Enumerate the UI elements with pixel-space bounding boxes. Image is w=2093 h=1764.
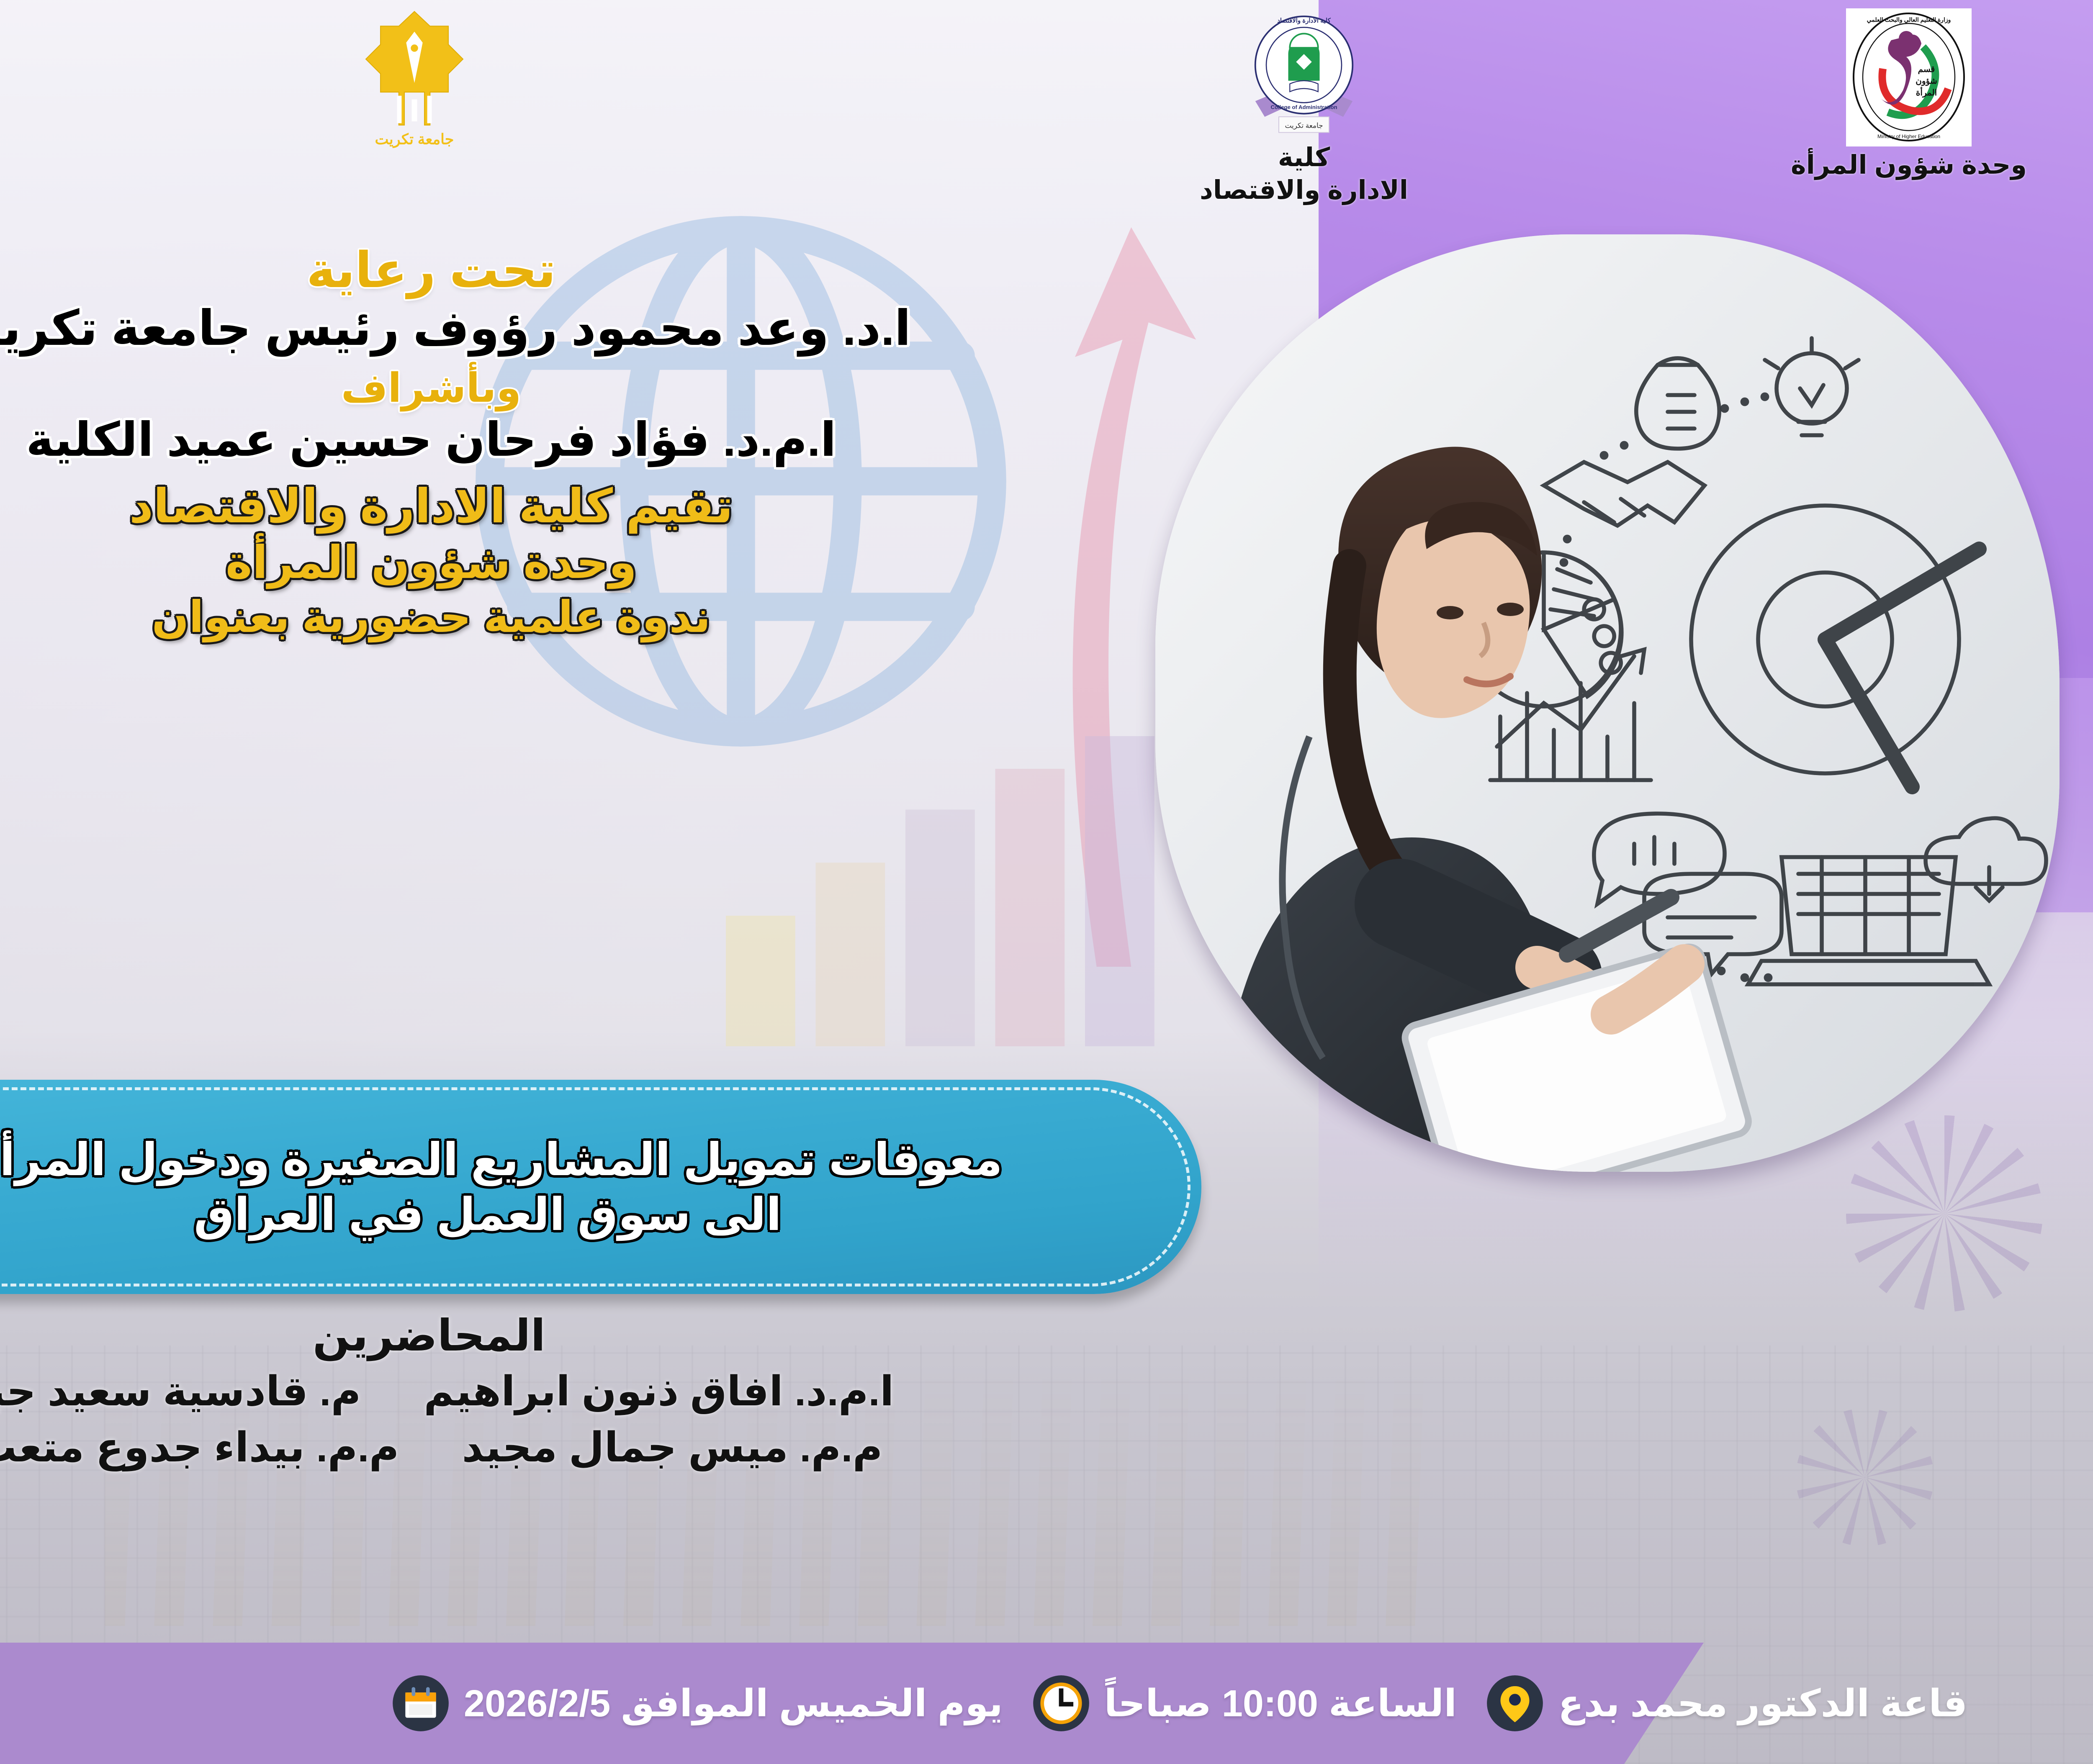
college-caption: كلية الادارة والاقتصاد: [1168, 141, 1440, 206]
lecturer-name: م. قادسية سعيد جبر: [0, 1367, 361, 1416]
svg-text:قسم: قسم: [1918, 65, 1935, 74]
supervisor-name: ا.م.د. فؤاد فرحان حسين عميد الكلية: [0, 413, 1231, 466]
businesswoman-photo: [1155, 234, 2060, 1172]
venue-text: قاعة الدكتور محمد بدع: [1558, 1682, 1967, 1725]
banner-title-line-1: معوقات تمويل المشاريع الصغيرة ودخول المر…: [0, 1134, 1003, 1185]
lecturer-name: م.م. بيداء جدوع متعب: [0, 1423, 399, 1472]
organiser-line-2: وحدة شؤون المرأة: [0, 537, 1231, 588]
footer-date-item: يوم الخميس الموافق 2026/2/5: [392, 1674, 1003, 1732]
banner-body: معوقات تمويل المشاريع الصغيرة ودخول المر…: [0, 1080, 1201, 1294]
svg-text:كلية الادارة والاقتصاد: كلية الادارة والاقتصاد: [1277, 17, 1331, 24]
background-bar-chart-icon: [703, 720, 1206, 1046]
tikrit-seal-caption: جامعة تكريت: [375, 131, 454, 149]
main-text-column: تحت رعاية ا.د. وعد محمود رؤوف رئيس جامعة…: [0, 243, 1231, 644]
footer-bar: قاعة الدكتور محمد بدع الساعة 10:00 صباحا…: [0, 1643, 2093, 1764]
calendar-icon: [392, 1674, 450, 1732]
women-unit-caption: وحدة شؤون المرأة: [1750, 149, 2068, 182]
lecturer-name: م.م. ميس جمال مجيد: [462, 1423, 882, 1472]
lecturer-row: م.م. ميس جمال مجيد م.م. بيداء جدوع متعب: [0, 1423, 1193, 1472]
lecturers-section: المحاضرين ا.م.د. افاق ذنون ابراهيم م. قا…: [0, 1310, 1193, 1479]
organiser-line-3: ندوة علمية حضورية بعنوان: [0, 593, 1231, 642]
svg-text:وزارة التعليم العالي والبحث ال: وزارة التعليم العالي والبحث العلمي: [1867, 16, 1951, 23]
poster-root: وزارة التعليم العالي Republic of Iraq وز…: [0, 0, 2093, 1764]
date-text: يوم الخميس الموافق 2026/2/5: [464, 1682, 1003, 1725]
footer-venue-item: قاعة الدكتور محمد بدع: [1486, 1674, 1967, 1732]
lecturer-row: ا.م.د. افاق ذنون ابراهيم م. قادسية سعيد …: [0, 1367, 1193, 1416]
clock-icon: [1032, 1674, 1090, 1732]
supervision-label: وبأشراف: [0, 366, 1231, 411]
university-logo-block: جامعة تكريت: [285, 4, 544, 151]
college-seal-icon: كلية الادارة والاقتصاد College of Admini…: [1241, 8, 1367, 138]
women-unit-logo-block: قسم شؤون المرأة وزارة التعليم العالي وال…: [1750, 8, 2068, 182]
location-pin-icon: [1486, 1674, 1544, 1732]
women-unit-seal-icon: قسم شؤون المرأة وزارة التعليم العالي وال…: [1846, 8, 1972, 146]
footer-time-item: الساعة 10:00 صباحاً: [1032, 1674, 1457, 1732]
gear-decoration-small-icon: [1796, 1408, 1934, 1546]
banner-title-line-2: الى سوق العمل في العراق: [194, 1189, 782, 1240]
lecturer-name: ا.م.د. افاق ذنون ابراهيم: [424, 1367, 894, 1416]
svg-text:Ministry of Higher Education: Ministry of Higher Education: [1877, 134, 1940, 139]
organiser-line-1: تقيم كلية الادارة والاقتصاد: [0, 480, 1231, 532]
seminar-title-banner: معوقات تمويل المشاريع الصغيرة ودخول المر…: [0, 1080, 1201, 1306]
patronage-label: تحت رعاية: [0, 243, 1231, 298]
lecturers-title: المحاضرين: [0, 1310, 1193, 1361]
college-logo-block: كلية الادارة والاقتصاد College of Admini…: [1168, 8, 1440, 206]
svg-text:College of Administration: College of Administration: [1270, 104, 1337, 110]
time-text: الساعة 10:00 صباحاً: [1104, 1682, 1457, 1725]
svg-text:المرأة: المرأة: [1916, 87, 1937, 98]
svg-text:شؤون: شؤون: [1916, 77, 1937, 86]
college-seal-banner: جامعة تكريت: [1285, 121, 1323, 130]
tikrit-university-seal-icon: جامعة تكريت: [345, 4, 483, 151]
patron-name: ا.د. وعد محمود رؤوف رئيس جامعة تكريت: [0, 301, 1231, 356]
